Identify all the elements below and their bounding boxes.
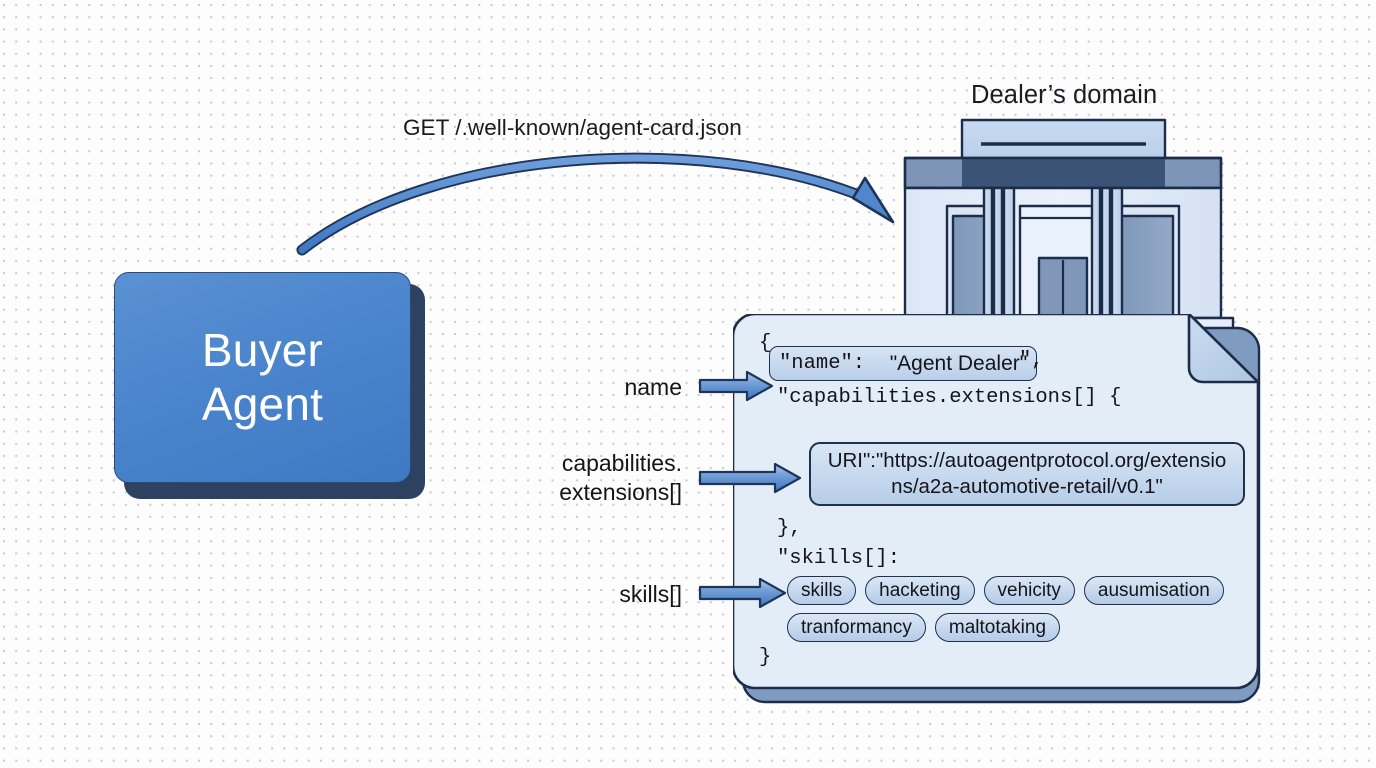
get-request-arrow [302, 158, 893, 250]
capabilities-pointer-arrow [700, 464, 800, 492]
annotation-capabilities-extensions: capabilities. extensions[] [559, 449, 682, 506]
dealer-domain-title: Dealer’s domain [971, 80, 1157, 110]
diagram-canvas: { "name": "Agent Dealer" ", "capabilitie… [0, 0, 1376, 768]
name-pointer-arrow [700, 372, 772, 400]
get-request-label: GET /.well-known/agent-card.json [403, 115, 742, 142]
annotation-name: name [624, 373, 682, 402]
skills-pointer-arrow [700, 579, 785, 607]
annotation-skills: skills[] [619, 580, 682, 609]
